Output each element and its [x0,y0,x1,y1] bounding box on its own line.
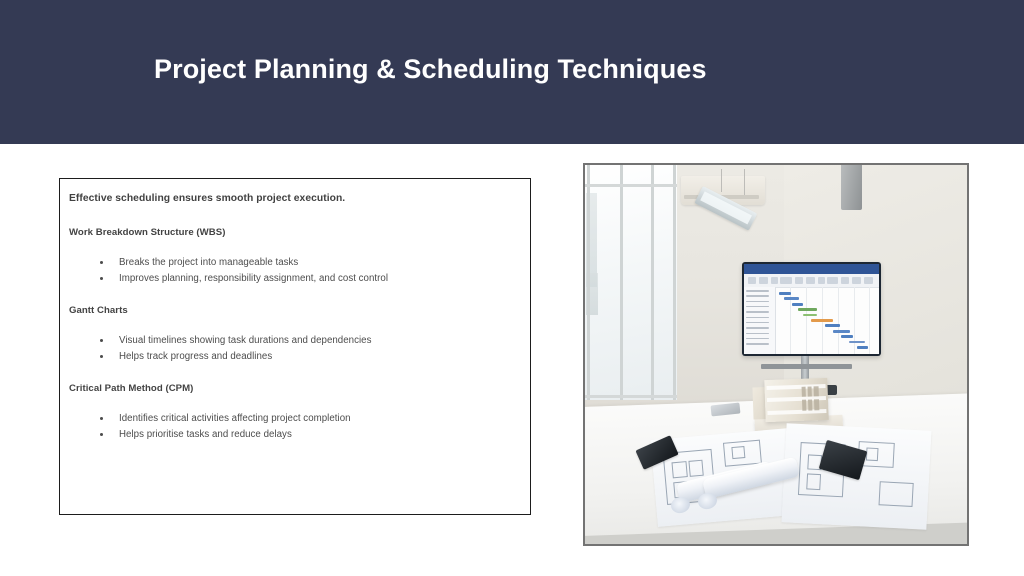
list-item: Helps prioritise tasks and reduce delays [69,427,520,443]
list-item-text: Improves planning, responsibility assign… [119,273,388,284]
section-heading-cpm: Critical Path Method (CPM) [69,382,520,396]
gantt-bar [784,297,799,300]
wall-display [742,262,881,357]
section-heading-gantt: Gantt Charts [69,304,520,318]
gantt-bar [779,292,791,295]
list-item: Breaks the project into manageable tasks [69,255,520,271]
gantt-bar [825,324,840,327]
bullet-dot-icon [100,417,103,420]
photo-illustration [585,165,967,544]
bullet-list-wbs: Breaks the project into manageable tasks… [69,255,520,287]
list-item: Visual timelines showing task durations … [69,333,520,349]
light-suspension-rod [721,169,722,192]
bullet-list-gantt: Visual timelines showing task durations … [69,333,520,365]
app-toolbar [744,274,879,289]
list-item-text: Visual timelines showing task durations … [119,335,371,346]
architectural-building-model [764,378,828,422]
app-title-bar [744,264,879,274]
window-transom [585,184,677,187]
ceiling-duct [841,165,862,210]
bullet-dot-icon [100,339,103,342]
bullet-dot-icon [100,261,103,264]
list-item: Identifies critical activities affecting… [69,411,520,427]
gantt-bar [833,330,851,333]
window-bank [585,165,677,400]
lead-statement: Effective scheduling ensures smooth proj… [69,192,520,206]
slide-title: Project Planning & Scheduling Techniques [154,54,707,85]
bullet-dot-icon [100,355,103,358]
content-card: Effective scheduling ensures smooth proj… [59,178,531,515]
display-screen [744,264,879,354]
gantt-bar [857,346,868,349]
light-suspension-rod [744,169,745,196]
window-mullion [587,165,590,400]
list-item-text: Breaks the project into manageable tasks [119,257,298,268]
gantt-bar [792,303,803,306]
bullet-dot-icon [100,433,103,436]
gantt-bar [849,341,865,344]
slide-header-band: Project Planning & Scheduling Techniques [0,0,1024,144]
task-list-column [744,287,776,354]
display-stand-bar [761,364,853,369]
content-card-body: Effective scheduling ensures smooth proj… [69,192,520,443]
list-item: Improves planning, responsibility assign… [69,271,520,287]
gantt-bar [841,335,853,338]
list-item-text: Identifies critical activities affecting… [119,413,351,424]
window-mullion [620,165,623,400]
window-sill [585,395,677,398]
list-item-text: Helps track progress and deadlines [119,351,272,362]
list-item-text: Helps prioritise tasks and reduce delays [119,429,292,440]
list-item: Helps track progress and deadlines [69,349,520,365]
bullet-dot-icon [100,277,103,280]
bullet-list-cpm: Identifies critical activities affecting… [69,411,520,443]
gantt-bar [798,308,817,311]
window-mullion [651,165,654,400]
window-mullion [673,165,676,400]
section-heading-wbs: Work Breakdown Structure (WBS) [69,226,520,240]
slide: Project Planning & Scheduling Techniques… [0,0,1024,576]
gantt-bar [811,319,833,322]
project-team-meeting-photo [583,163,969,546]
